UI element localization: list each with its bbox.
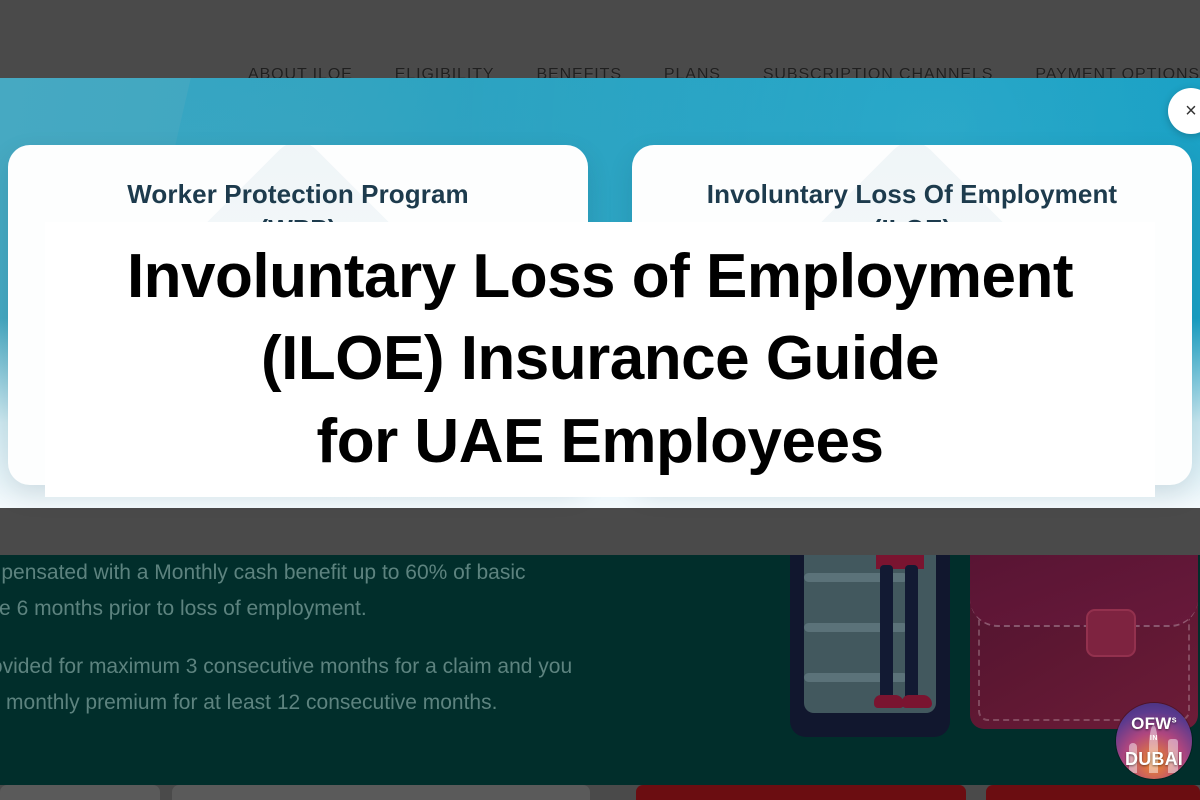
logo-text-dubai: DUBAI — [1116, 749, 1192, 770]
info-band-text: ...will be compensated with a Monthly ca… — [0, 555, 580, 743]
person-shoe-right — [902, 695, 932, 708]
page-title-line1: Involuntary Loss of Employment — [127, 236, 1073, 318]
person-figure — [872, 555, 932, 727]
person-shoe-left — [874, 695, 904, 708]
briefcase-flap — [970, 555, 1198, 627]
info-band: ...will be compensated with a Monthly ca… — [0, 555, 1200, 785]
logo-text-in: IN — [1116, 735, 1192, 742]
bottom-card-gray-1[interactable] — [0, 785, 160, 800]
card-title-wpp-line1: Worker Protection Program — [127, 179, 469, 209]
bottom-card-maroon-1[interactable] — [636, 785, 966, 800]
page-stage: ABOUT ILOE ELIGIBILITY BENEFITS PLANS SU… — [0, 0, 1200, 800]
briefcase-icon — [970, 555, 1198, 729]
info-paragraph-1: ...will be compensated with a Monthly ca… — [0, 555, 580, 627]
bottom-cards-strip — [0, 785, 1200, 800]
title-overlay-panel: Involuntary Loss of Employment (ILOE) In… — [45, 222, 1155, 497]
card-title-iloe-line1: Involuntary Loss Of Employment — [707, 179, 1117, 209]
page-title: Involuntary Loss of Employment (ILOE) In… — [127, 236, 1073, 483]
logo-text-ofw: OFWs — [1116, 714, 1192, 734]
page-title-line3: for UAE Employees — [127, 401, 1073, 483]
ofw-in-dubai-logo: OFWs IN DUBAI — [1116, 703, 1192, 779]
top-navigation-bar: ABOUT ILOE ELIGIBILITY BENEFITS PLANS SU… — [0, 0, 1200, 88]
person-leg-left — [880, 565, 893, 701]
logo-text-ofw-main: OFW — [1131, 714, 1172, 733]
bottom-card-gray-2[interactable] — [172, 785, 590, 800]
person-leg-right — [905, 565, 918, 701]
info-paragraph-2: Benefit is provided for maximum 3 consec… — [0, 649, 580, 721]
page-title-line2: (ILOE) Insurance Guide — [127, 318, 1073, 400]
bottom-card-maroon-2[interactable] — [986, 785, 1200, 800]
logo-text-ofw-sup: s — [1172, 714, 1177, 724]
briefcase-lock — [1086, 609, 1136, 657]
